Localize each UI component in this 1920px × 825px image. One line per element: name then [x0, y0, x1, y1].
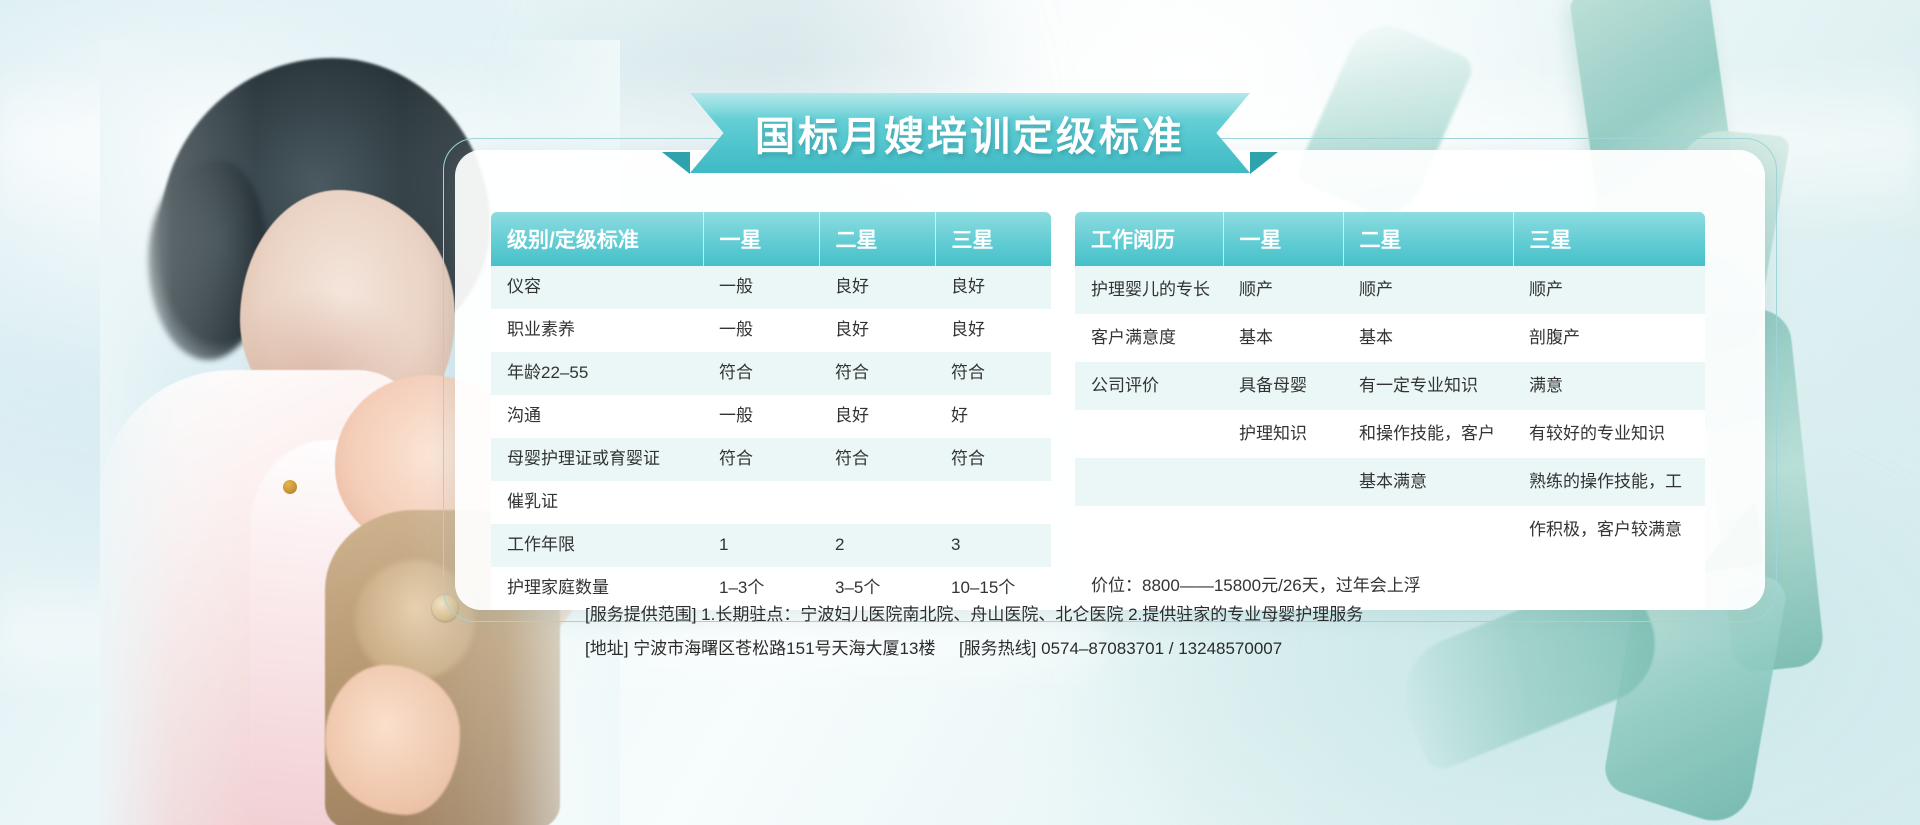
cell-three-star: 好 — [935, 395, 1051, 438]
table-header-row: 级别/定级标准 一星 二星 三星 — [491, 212, 1051, 266]
cell-one-star: 一般 — [703, 309, 819, 352]
footer-contact-line: [地址] 宁波市海曙区苍松路151号天海大厦13楼 [服务热线] 0574–87… — [585, 632, 1785, 666]
table-row: 仪容 一般 良好 良好 — [491, 266, 1051, 309]
table-row: 护理婴儿的专长 顺产 顺产 顺产 — [1075, 266, 1705, 314]
cell-two-star: 基本满意 — [1343, 458, 1513, 506]
cell-one-star: 符合 — [703, 438, 819, 481]
work-experience-table-head: 工作阅历 一星 二星 三星 — [1075, 212, 1705, 266]
cell-criteria: 年龄22–55 — [491, 352, 703, 395]
cell-experience: 公司评价 — [1075, 362, 1223, 410]
cell-one-star — [1223, 458, 1343, 506]
table-row: 职业素养 一般 良好 良好 — [491, 309, 1051, 352]
work-experience-table-body: 护理婴儿的专长 顺产 顺产 顺产 客户满意度 基本 基本 剖腹产 公司评价 具备… — [1075, 266, 1705, 610]
footer-service-scope: [服务提供范围] 1.长期驻点：宁波妇儿医院南北院、舟山医院、北仑医院 2.提供… — [585, 598, 1785, 632]
column-header-experience: 工作阅历 — [1075, 212, 1223, 266]
cell-three-star: 3 — [935, 524, 1051, 567]
grading-standard-table: 级别/定级标准 一星 二星 三星 仪容 一般 良好 良好 职业素养 一般 良好 — [491, 212, 1051, 610]
cell-one-star: 基本 — [1223, 314, 1343, 362]
tables-container: 级别/定级标准 一星 二星 三星 仪容 一般 良好 良好 职业素养 一般 良好 — [455, 150, 1765, 610]
cell-experience: 护理婴儿的专长 — [1075, 266, 1223, 314]
cell-two-star: 和操作技能，客户 — [1343, 410, 1513, 458]
cell-two-star: 良好 — [819, 395, 935, 438]
table-row: 年龄22–55 符合 符合 符合 — [491, 352, 1051, 395]
table-row: 基本满意 熟练的操作技能，工 — [1075, 458, 1705, 506]
cell-experience: 客户满意度 — [1075, 314, 1223, 362]
table-row: 作积极，客户较满意 — [1075, 506, 1705, 554]
grading-standard-table-body: 仪容 一般 良好 良好 职业素养 一般 良好 良好 年龄22–55 符合 符合 … — [491, 266, 1051, 610]
column-header-one-star: 一星 — [1223, 212, 1343, 266]
cell-two-star: 基本 — [1343, 314, 1513, 362]
cell-criteria: 职业素养 — [491, 309, 703, 352]
cell-criteria: 仪容 — [491, 266, 703, 309]
table-row: 公司评价 具备母婴 有一定专业知识 满意 — [1075, 362, 1705, 410]
cell-two-star — [819, 481, 935, 524]
work-experience-table: 工作阅历 一星 二星 三星 护理婴儿的专长 顺产 顺产 顺产 客户满意度 基本 … — [1075, 212, 1705, 610]
cell-two-star — [1343, 506, 1513, 554]
cell-three-star: 满意 — [1513, 362, 1705, 410]
grading-standard-table-head: 级别/定级标准 一星 二星 三星 — [491, 212, 1051, 266]
hotline-value: 0574–87083701 / 13248570007 — [1041, 639, 1282, 658]
table-row: 客户满意度 基本 基本 剖腹产 — [1075, 314, 1705, 362]
table-row: 母婴护理证或育婴证 符合 符合 符合 — [491, 438, 1051, 481]
column-header-two-star: 二星 — [819, 212, 935, 266]
cell-one-star: 一般 — [703, 395, 819, 438]
address-label: [地址] — [585, 639, 628, 658]
cell-three-star: 顺产 — [1513, 266, 1705, 314]
cell-two-star: 顺产 — [1343, 266, 1513, 314]
cell-three-star: 良好 — [935, 309, 1051, 352]
column-header-criteria: 级别/定级标准 — [491, 212, 703, 266]
footer-info: [服务提供范围] 1.长期驻点：宁波妇儿医院南北院、舟山医院、北仑医院 2.提供… — [585, 598, 1785, 666]
cell-one-star: 1 — [703, 524, 819, 567]
column-header-three-star: 三星 — [935, 212, 1051, 266]
cell-three-star — [935, 481, 1051, 524]
cell-three-star: 良好 — [935, 266, 1051, 309]
cell-experience — [1075, 506, 1223, 554]
cell-three-star: 符合 — [935, 352, 1051, 395]
cell-two-star: 良好 — [819, 266, 935, 309]
cell-one-star: 护理知识 — [1223, 410, 1343, 458]
column-header-three-star: 三星 — [1513, 212, 1705, 266]
cell-two-star: 有一定专业知识 — [1343, 362, 1513, 410]
cell-three-star: 熟练的操作技能，工 — [1513, 458, 1705, 506]
hotline-label: [服务热线] — [959, 639, 1036, 658]
cell-two-star: 良好 — [819, 309, 935, 352]
cell-experience — [1075, 410, 1223, 458]
address-value: 宁波市海曙区苍松路151号天海大厦13楼 — [633, 639, 935, 658]
cell-criteria: 母婴护理证或育婴证 — [491, 438, 703, 481]
cell-two-star: 2 — [819, 524, 935, 567]
cell-three-star: 剖腹产 — [1513, 314, 1705, 362]
cell-criteria: 工作年限 — [491, 524, 703, 567]
table-row: 工作年限 1 2 3 — [491, 524, 1051, 567]
cell-two-star: 符合 — [819, 352, 935, 395]
cell-one-star: 顺产 — [1223, 266, 1343, 314]
table-row: 护理知识 和操作技能，客户 有较好的专业知识 — [1075, 410, 1705, 458]
table-header-row: 工作阅历 一星 二星 三星 — [1075, 212, 1705, 266]
table-row: 催乳证 — [491, 481, 1051, 524]
cell-one-star: 一般 — [703, 266, 819, 309]
cell-three-star: 有较好的专业知识 — [1513, 410, 1705, 458]
photo-uniform-pin — [283, 480, 297, 494]
cell-criteria: 催乳证 — [491, 481, 703, 524]
cell-one-star: 符合 — [703, 352, 819, 395]
column-header-one-star: 一星 — [703, 212, 819, 266]
cell-one-star: 具备母婴 — [1223, 362, 1343, 410]
cell-three-star: 作积极，客户较满意 — [1513, 506, 1705, 554]
cell-experience — [1075, 458, 1223, 506]
cell-two-star: 符合 — [819, 438, 935, 481]
poster-stage: 国标月嫂培训定级标准 级别/定级标准 一星 二星 三星 仪容 一般 良好 — [0, 0, 1920, 825]
cell-three-star: 符合 — [935, 438, 1051, 481]
cell-criteria: 沟通 — [491, 395, 703, 438]
table-row: 沟通 一般 良好 好 — [491, 395, 1051, 438]
cell-one-star — [1223, 506, 1343, 554]
column-header-two-star: 二星 — [1343, 212, 1513, 266]
cell-one-star — [703, 481, 819, 524]
